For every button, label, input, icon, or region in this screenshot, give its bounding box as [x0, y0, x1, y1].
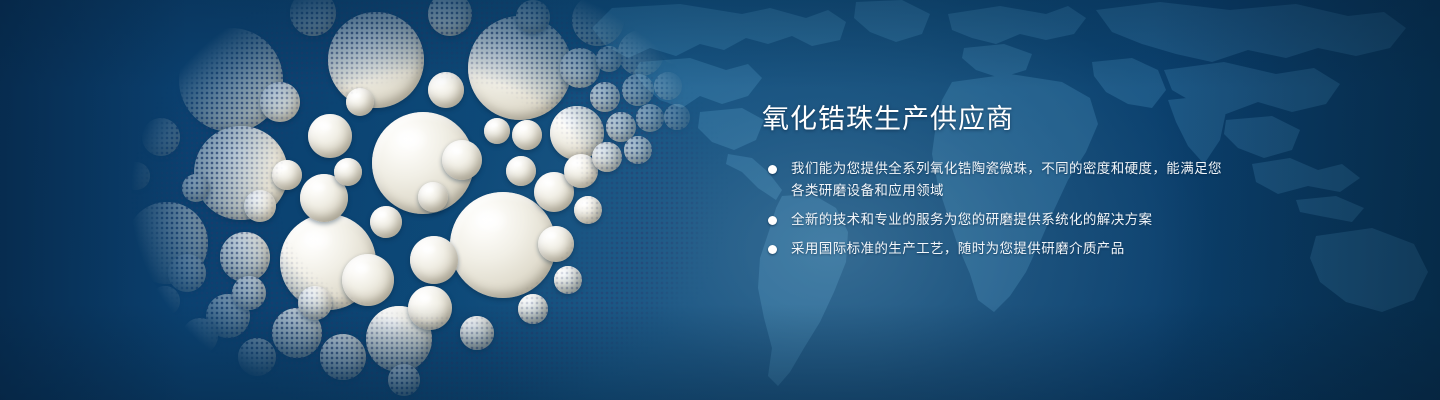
banner-content: 氧化锆珠生产供应商 我们能为您提供全系列氧化锆陶瓷微珠，不同的密度和硬度，能满足… — [762, 104, 1232, 260]
list-item: 采用国际标准的生产工艺，随时为您提供研磨介质产品 — [762, 238, 1232, 260]
hero-banner: 氧化锆珠生产供应商 我们能为您提供全系列氧化锆陶瓷微珠，不同的密度和硬度，能满足… — [0, 0, 1440, 400]
bullet-dot-icon — [768, 165, 777, 174]
bullet-text: 采用国际标准的生产工艺，随时为您提供研磨介质产品 — [791, 241, 1125, 257]
bullet-text: 全新的技术和专业的服务为您的研磨提供系统化的解决方案 — [791, 212, 1152, 228]
bead-cluster — [120, 0, 740, 400]
zirconia-beads-photo — [120, 0, 740, 400]
list-item: 全新的技术和专业的服务为您的研磨提供系统化的解决方案 — [762, 209, 1232, 231]
bullet-dot-icon — [768, 216, 777, 225]
bullet-text: 我们能为您提供全系列氧化锆陶瓷微珠，不同的密度和硬度，能满足您各类研磨设备和应用… — [791, 161, 1222, 199]
banner-headline: 氧化锆珠生产供应商 — [762, 104, 1232, 136]
bullet-dot-icon — [768, 245, 777, 254]
list-item: 我们能为您提供全系列氧化锆陶瓷微珠，不同的密度和硬度，能满足您各类研磨设备和应用… — [762, 158, 1232, 202]
banner-bullet-list: 我们能为您提供全系列氧化锆陶瓷微珠，不同的密度和硬度，能满足您各类研磨设备和应用… — [762, 158, 1232, 260]
